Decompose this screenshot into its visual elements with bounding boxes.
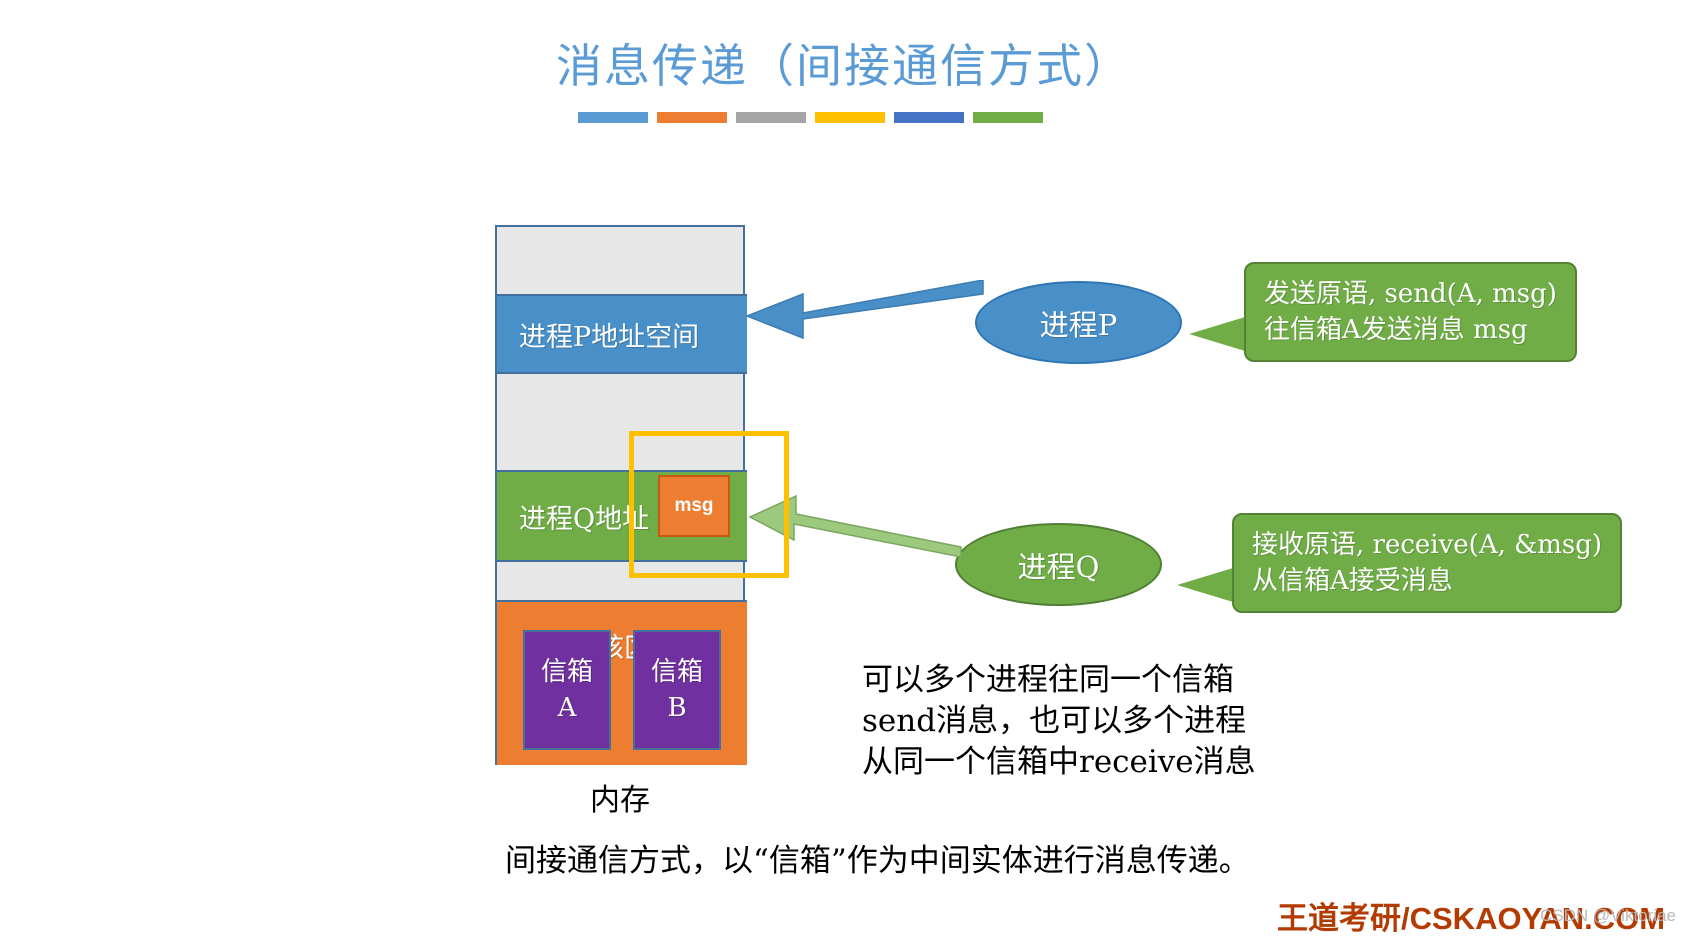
process-q-label: 进程Q: [1018, 544, 1100, 586]
accent-bar-blue: [578, 112, 648, 123]
note-line-3: 从同一个信箱中receive消息: [862, 742, 1256, 783]
memory-kernel-region: 内核区域 信箱 A 信箱 B: [497, 600, 747, 765]
mailbox-a: 信箱 A: [523, 630, 611, 750]
msg-block: msg: [658, 475, 730, 537]
callout-receive-line1: 接收原语, receive(A, &msg): [1252, 527, 1602, 563]
mailbox-b-line1: 信箱: [651, 657, 703, 687]
arrow-send-to-memory: [745, 280, 985, 350]
process-p-node: 进程P: [975, 281, 1182, 364]
callout-send-tail: [1189, 317, 1245, 351]
mailbox-a-line1: 信箱: [541, 657, 593, 687]
note-line-2: send消息，也可以多个进程: [862, 701, 1256, 742]
mailbox-b: 信箱 B: [633, 630, 721, 750]
callout-send-line1: 发送原语, send(A, msg): [1264, 276, 1557, 312]
note-line-1: 可以多个进程往同一个信箱: [862, 660, 1256, 701]
accent-bar-green: [973, 112, 1043, 123]
page-title: 消息传递（间接通信方式）: [0, 30, 1688, 96]
callout-receive-line2: 从信箱A接受消息: [1252, 563, 1602, 599]
memory-band-process-p: 进程P地址空间: [497, 294, 747, 374]
callout-receive: 接收原语, receive(A, &msg) 从信箱A接受消息: [1232, 513, 1622, 613]
accent-bar-orange: [657, 112, 727, 123]
process-q-node: 进程Q: [955, 523, 1162, 606]
callout-receive-tail: [1177, 568, 1233, 602]
mailbox-b-line2: B: [667, 693, 686, 723]
title-accent-bars: [578, 112, 1043, 123]
csdn-watermark: CSDN @Viktoriae: [1540, 906, 1676, 926]
mailbox-a-line2: A: [558, 693, 577, 723]
callout-send-line2: 往信箱A发送消息 msg: [1264, 312, 1557, 348]
callout-send: 发送原语, send(A, msg) 往信箱A发送消息 msg: [1244, 262, 1577, 362]
process-p-label: 进程P: [1040, 302, 1118, 344]
slide-canvas: 消息传递（间接通信方式） 进程P地址空间 进程Q地址 内核区域 信箱 A 信箱 …: [0, 0, 1688, 940]
memory-band-process-p-label: 进程P地址空间: [519, 315, 699, 354]
accent-bar-gray: [736, 112, 806, 123]
conclusion-text: 间接通信方式，以“信箱”作为中间实体进行消息传递。: [505, 835, 1250, 880]
memory-caption: 内存: [495, 775, 745, 819]
accent-bar-indigo: [894, 112, 964, 123]
note-paragraph: 可以多个进程往同一个信箱 send消息，也可以多个进程 从同一个信箱中recei…: [862, 660, 1256, 783]
accent-bar-yellow: [815, 112, 885, 123]
